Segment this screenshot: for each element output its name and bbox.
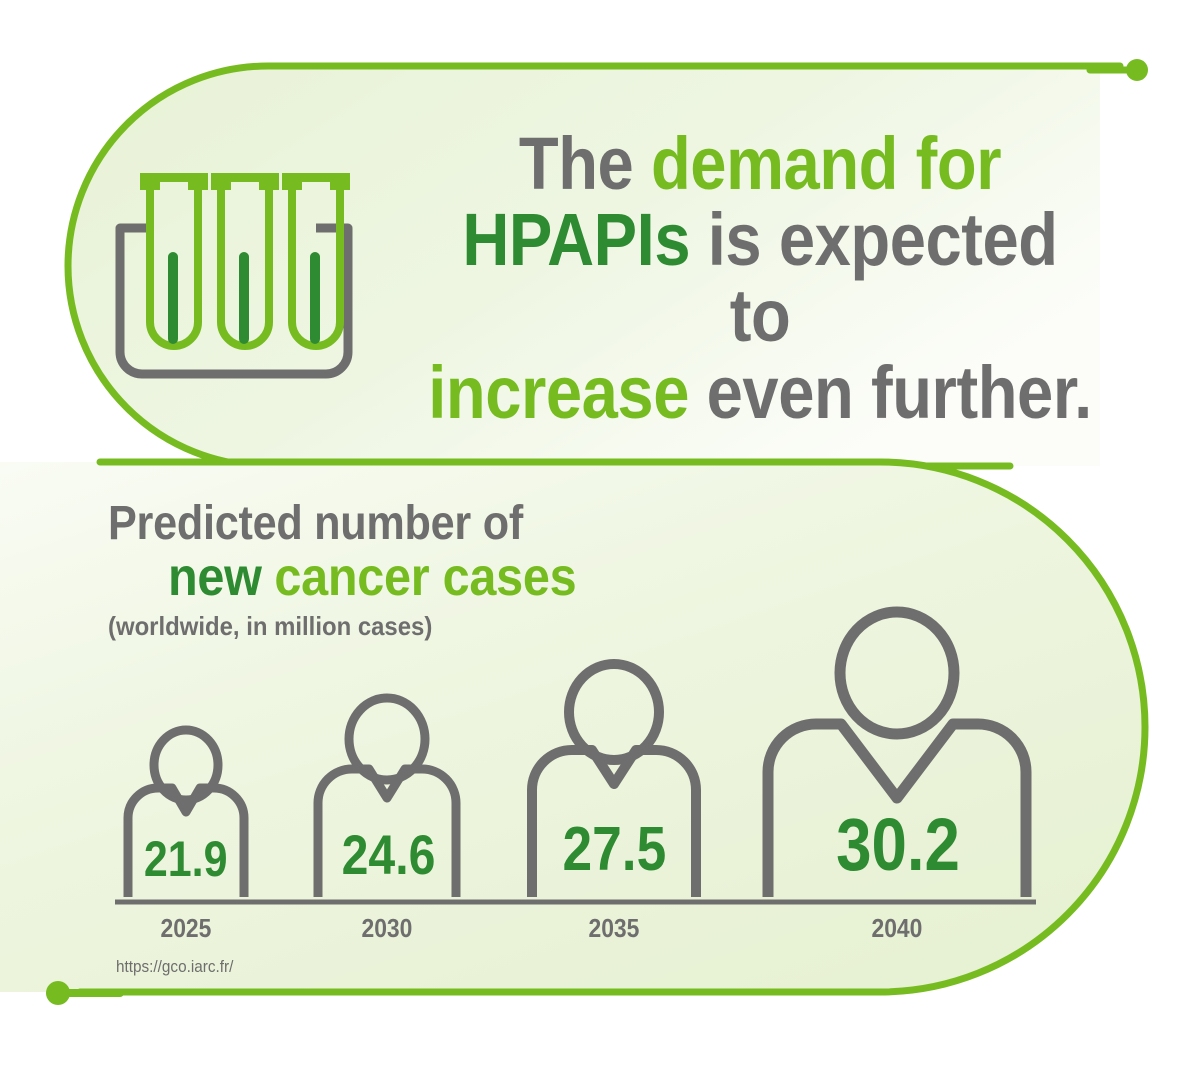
value-label-2030: 24.6 xyxy=(320,822,456,887)
bottom-left-dot xyxy=(46,981,70,1005)
value-label-2025: 21.9 xyxy=(126,830,246,888)
year-label-2025: 2025 xyxy=(126,913,246,944)
headline-line-1: The demand for xyxy=(426,126,1095,202)
year-label-2030: 2030 xyxy=(327,913,447,944)
chart-heading-new: new xyxy=(168,547,262,607)
value-label-2040: 30.2 xyxy=(800,802,996,887)
headline-line3-part1: increase xyxy=(428,351,689,434)
headline-line-3: increase even further. xyxy=(426,355,1095,431)
headline-line-2: HPAPIs is expected to xyxy=(426,202,1095,354)
headline-line1-part2: demand for xyxy=(651,122,1001,205)
chart-subheading: (worldwide, in million cases) xyxy=(108,612,752,641)
headline-line1-part1: The xyxy=(519,122,651,205)
headline-line2-part1: HPAPIs xyxy=(462,198,690,281)
source-url[interactable]: https://gco.iarc.fr/ xyxy=(116,957,246,977)
year-label-2035: 2035 xyxy=(554,913,674,944)
value-label-2035: 27.5 xyxy=(538,814,690,885)
infographic-canvas: The demand for HPAPIs is expected to inc… xyxy=(0,0,1200,1072)
headline-block: The demand for HPAPIs is expected to inc… xyxy=(380,126,1140,426)
headline-line2-part2: is expected to xyxy=(690,198,1058,357)
chart-heading-cancer-cases: cancer cases xyxy=(274,547,576,607)
year-label-2040: 2040 xyxy=(837,913,957,944)
headline-line3-part2: even further. xyxy=(689,351,1092,434)
chart-heading-block: Predicted number of newcancer cases (wor… xyxy=(108,500,808,640)
chart-heading-line2: newcancer cases xyxy=(168,549,744,606)
chart-heading-line1: Predicted number of xyxy=(108,500,738,549)
